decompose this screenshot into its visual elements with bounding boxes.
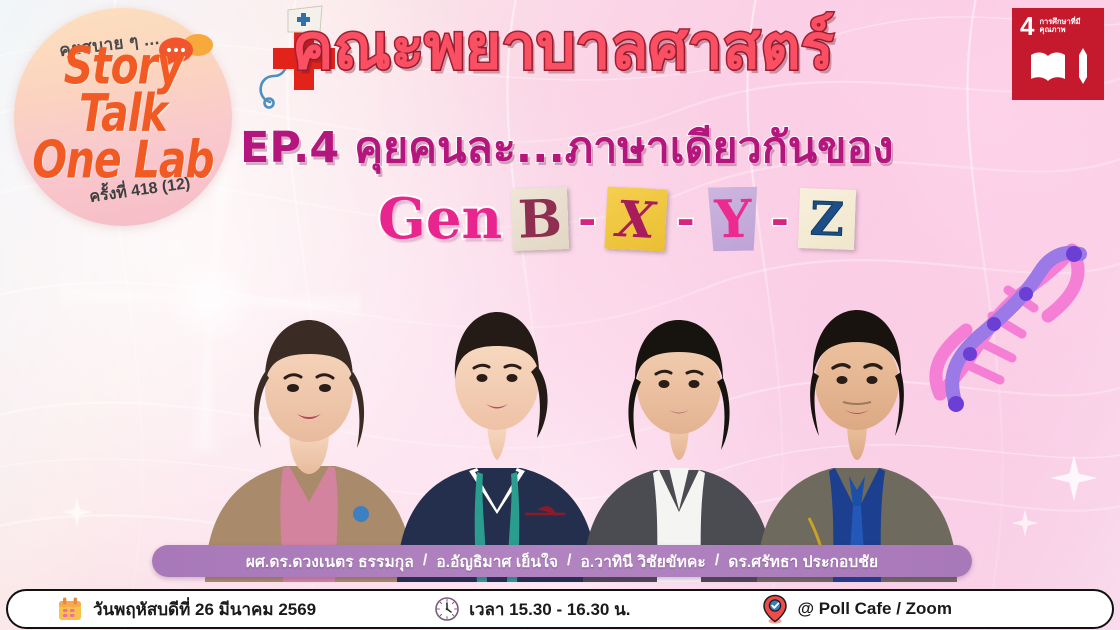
- sdg-badge: 4 การศึกษาที่มีคุณภาพ: [1012, 8, 1104, 100]
- gen-dash: -: [676, 194, 694, 245]
- speaker-photo-3: [583, 320, 773, 582]
- generation-row: Gen B - X - Y - Z: [378, 186, 855, 252]
- name-separator: /: [706, 552, 728, 570]
- speaker-photo-1: [205, 320, 413, 582]
- speaker-photo-2: [397, 312, 597, 582]
- speaker-name-3: อ.วาทินี วิชัยขัทคะ: [580, 549, 705, 574]
- open-book-and-pencil-icon: [1028, 46, 1072, 86]
- speakers-photo-group: [185, 262, 985, 582]
- brand-logo-badge: คุยสบาย ๆ ... Story Talk One Lab ครั้งที…: [14, 8, 232, 226]
- gen-letter-y: Y: [704, 187, 761, 252]
- sparkle-icon: [1010, 508, 1040, 538]
- brand-name-line2: One Lab: [17, 138, 228, 185]
- poster-root: คุยสบาย ๆ ... Story Talk One Lab ครั้งที…: [0, 0, 1120, 630]
- sparkle-icon: [1048, 452, 1100, 504]
- name-separator: /: [414, 552, 436, 570]
- gen-word: Gen: [378, 186, 502, 252]
- sdg-label: การศึกษาที่มีคุณภาพ: [1039, 15, 1096, 35]
- event-info-bar: วันพฤหัสบดีที่ 26 มีนาคม 2569 เวลา 15.30…: [6, 589, 1114, 629]
- gen-letter-x: X: [605, 186, 668, 251]
- calendar-icon: [56, 595, 84, 623]
- speaker-name-1: ผศ.ดร.ดวงเนตร ธรรมกุล: [246, 549, 414, 574]
- event-time: เวลา 15.30 - 16.30 น.: [434, 596, 630, 623]
- speaker-photo-4: [757, 310, 957, 582]
- event-time-text: เวลา 15.30 - 16.30 น.: [469, 596, 630, 623]
- brand-name-line1: Story Talk: [64, 36, 183, 143]
- event-place: @ Poll Cafe / Zoom: [762, 594, 951, 624]
- gen-letter-z: Z: [798, 188, 856, 250]
- pencil-icon: [1077, 46, 1089, 86]
- page-subtitle: EP.4 คุยคนละ...ภาษาเดียวกันของ: [240, 126, 1100, 171]
- event-place-text: @ Poll Cafe / Zoom: [797, 599, 951, 619]
- event-date-text: วันพฤหัสบดีที่ 26 มีนาคม 2569: [93, 596, 316, 623]
- location-pin-icon: [762, 594, 788, 624]
- speaker-name-2: อ.อัญธิมาศ เย็นใจ: [436, 549, 558, 574]
- sdg-number: 4: [1020, 15, 1034, 38]
- page-title: คณะพยาบาลศาสตร์: [292, 14, 1012, 79]
- gen-letter-b: B: [511, 187, 569, 251]
- name-separator: /: [558, 552, 580, 570]
- speaker-name-4: ดร.ศรัทธา ประกอบชัย: [728, 549, 878, 574]
- clock-icon: [434, 596, 460, 622]
- speaker-names-bar: ผศ.ดร.ดวงเนตร ธรรมกุล / อ.อัญธิมาศ เย็นใ…: [152, 545, 972, 577]
- brand-name: Story Talk One Lab: [17, 43, 228, 184]
- gen-dash: -: [771, 194, 789, 245]
- event-date: วันพฤหัสบดีที่ 26 มีนาคม 2569: [56, 595, 316, 623]
- sparkle-icon: [60, 495, 94, 529]
- gen-dash: -: [578, 194, 596, 245]
